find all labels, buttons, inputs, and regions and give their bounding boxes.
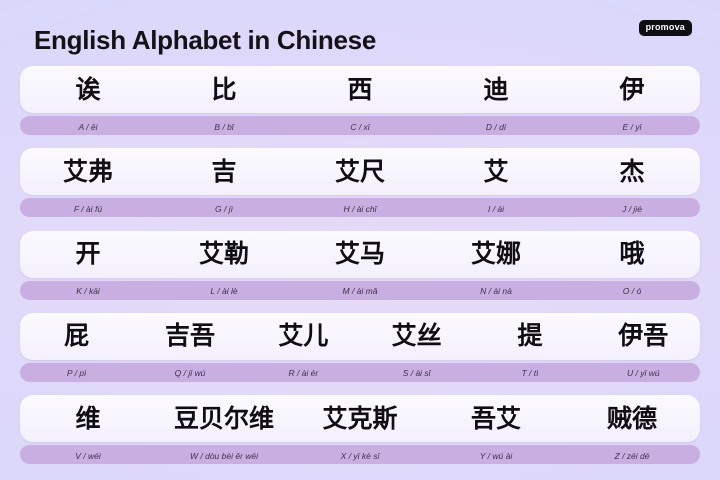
pinyin-text: A / ēi xyxy=(78,122,97,132)
hanzi-cell: 吉吾 xyxy=(133,323,246,349)
pinyin-text: U / yī wú xyxy=(627,368,660,378)
pinyin-text: L / ài lè xyxy=(210,286,237,296)
hanzi-cell: 贼德 xyxy=(564,406,700,432)
pinyin-cell: C / xī xyxy=(292,117,428,135)
pinyin-cell: U / yī wú xyxy=(587,363,700,381)
hanzi-cell: 艾儿 xyxy=(247,323,360,349)
hanzi-text: 迪 xyxy=(483,75,508,104)
pinyin-row: F / ài fúG / jìH / ài chǐI / àiJ / jié xyxy=(20,198,700,217)
hanzi-cell: 艾克斯 xyxy=(292,406,428,432)
hanzi-cell: 吉 xyxy=(156,159,292,185)
hanzi-text: 艾丝 xyxy=(392,321,442,350)
pinyin-text: M / ài mǎ xyxy=(343,286,378,296)
pinyin-text: T / tì xyxy=(521,368,538,378)
pinyin-row: P / pìQ / jī wúR / ài érS / ài sīT / tìU… xyxy=(20,363,700,382)
hanzi-cell: 吾艾 xyxy=(428,406,564,432)
alphabet-row-group: 开艾勒艾马艾娜哦K / kāiL / ài lèM / ài mǎN / ài … xyxy=(20,231,700,300)
hanzi-text: 提 xyxy=(517,321,542,350)
hanzi-text: 西 xyxy=(347,75,372,104)
hanzi-cell: 杰 xyxy=(564,159,700,185)
pinyin-text: B / bǐ xyxy=(214,122,233,132)
pinyin-cell: M / ài mǎ xyxy=(292,281,428,299)
pinyin-text: K / kāi xyxy=(76,286,100,296)
hanzi-cell: 豆贝尔维 xyxy=(156,406,292,432)
pinyin-text: E / yī xyxy=(623,122,642,132)
hanzi-cell: 艾 xyxy=(428,159,564,185)
pinyin-text: N / ài nà xyxy=(480,286,512,296)
hanzi-cell: 艾尺 xyxy=(292,159,428,185)
pinyin-cell: P / pì xyxy=(20,363,133,381)
alphabet-row-group: 屁吉吾艾儿艾丝提伊吾P / pìQ / jī wúR / ài érS / ài… xyxy=(20,313,700,382)
pinyin-cell: I / ài xyxy=(428,199,564,217)
hanzi-text: 吾艾 xyxy=(471,404,521,433)
pinyin-cell: H / ài chǐ xyxy=(292,199,428,217)
poster-header: English Alphabet in Chinese promova xyxy=(20,18,700,62)
alphabet-row-group: 诶比西迪伊A / ēiB / bǐC / xīD / díE / yī xyxy=(20,66,700,135)
pinyin-cell: Y / wú ài xyxy=(428,446,564,464)
pinyin-cell: W / dòu bèi ěr wéi xyxy=(156,446,292,464)
hanzi-text: 维 xyxy=(75,404,100,433)
pinyin-text: J / jié xyxy=(622,204,642,214)
pinyin-cell: O / ó xyxy=(564,281,700,299)
character-row: 屁吉吾艾儿艾丝提伊吾 xyxy=(20,313,700,360)
pinyin-cell: B / bǐ xyxy=(156,117,292,135)
hanzi-text: 屁 xyxy=(64,321,89,350)
pinyin-cell: N / ài nà xyxy=(428,281,564,299)
poster-canvas: English Alphabet in Chinese promova 诶比西迪… xyxy=(0,0,720,480)
pinyin-cell: J / jié xyxy=(564,199,700,217)
hanzi-cell: 伊 xyxy=(564,77,700,103)
pinyin-cell: L / ài lè xyxy=(156,281,292,299)
pinyin-cell: A / ēi xyxy=(20,117,156,135)
pinyin-text: W / dòu bèi ěr wéi xyxy=(190,451,258,461)
pinyin-cell: D / dí xyxy=(428,117,564,135)
alphabet-row-group: 艾弗吉艾尺艾杰F / ài fúG / jìH / ài chǐI / àiJ … xyxy=(20,148,700,217)
page-title: English Alphabet in Chinese xyxy=(34,27,376,53)
pinyin-text: D / dí xyxy=(486,122,506,132)
character-row: 诶比西迪伊 xyxy=(20,66,700,113)
hanzi-cell: 诶 xyxy=(20,77,156,103)
hanzi-text: 诶 xyxy=(75,75,100,104)
pinyin-text: G / jì xyxy=(215,204,233,214)
pinyin-cell: G / jì xyxy=(156,199,292,217)
hanzi-cell: 哦 xyxy=(564,241,700,267)
pinyin-cell: R / ài ér xyxy=(247,363,360,381)
pinyin-cell: F / ài fú xyxy=(20,199,156,217)
pinyin-cell: E / yī xyxy=(564,117,700,135)
hanzi-text: 伊吾 xyxy=(618,321,668,350)
hanzi-cell: 艾弗 xyxy=(20,159,156,185)
pinyin-row: K / kāiL / ài lèM / ài mǎN / ài nàO / ó xyxy=(20,281,700,300)
hanzi-text: 吉吾 xyxy=(165,321,215,350)
hanzi-text: 比 xyxy=(211,75,236,104)
hanzi-text: 伊 xyxy=(619,75,644,104)
character-row: 维豆贝尔维艾克斯吾艾贼德 xyxy=(20,395,700,442)
hanzi-cell: 艾勒 xyxy=(156,241,292,267)
hanzi-text: 豆贝尔维 xyxy=(174,404,274,433)
pinyin-cell: K / kāi xyxy=(20,281,156,299)
hanzi-cell: 提 xyxy=(473,323,586,349)
character-row: 开艾勒艾马艾娜哦 xyxy=(20,231,700,278)
alphabet-row-group: 维豆贝尔维艾克斯吾艾贼德V / wéiW / dòu bèi ěr wéiX /… xyxy=(20,395,700,464)
pinyin-text: F / ài fú xyxy=(74,204,102,214)
hanzi-text: 哦 xyxy=(619,239,644,268)
hanzi-cell: 西 xyxy=(292,77,428,103)
hanzi-text: 杰 xyxy=(619,157,644,186)
pinyin-text: S / ài sī xyxy=(403,368,431,378)
hanzi-cell: 艾马 xyxy=(292,241,428,267)
hanzi-text: 吉 xyxy=(211,157,236,186)
pinyin-cell: Z / zéi dé xyxy=(564,446,700,464)
pinyin-row: A / ēiB / bǐC / xīD / díE / yī xyxy=(20,116,700,135)
pinyin-cell: S / ài sī xyxy=(360,363,473,381)
hanzi-cell: 维 xyxy=(20,406,156,432)
hanzi-cell: 开 xyxy=(20,241,156,267)
hanzi-cell: 比 xyxy=(156,77,292,103)
hanzi-text: 艾尺 xyxy=(335,157,385,186)
hanzi-text: 开 xyxy=(75,239,100,268)
promova-logo: promova xyxy=(639,20,692,36)
pinyin-cell: T / tì xyxy=(473,363,586,381)
pinyin-text: X / yī kè sī xyxy=(341,451,380,461)
pinyin-text: H / ài chǐ xyxy=(343,204,376,214)
hanzi-cell: 伊吾 xyxy=(587,323,700,349)
hanzi-text: 艾娜 xyxy=(471,239,521,268)
hanzi-cell: 艾娜 xyxy=(428,241,564,267)
pinyin-cell: Q / jī wú xyxy=(133,363,246,381)
pinyin-text: I / ài xyxy=(488,204,504,214)
pinyin-text: P / pì xyxy=(67,368,87,378)
pinyin-text: C / xī xyxy=(350,122,369,132)
hanzi-text: 艾弗 xyxy=(63,157,113,186)
pinyin-text: V / wéi xyxy=(75,451,101,461)
hanzi-text: 艾儿 xyxy=(278,321,328,350)
hanzi-cell: 迪 xyxy=(428,77,564,103)
pinyin-cell: X / yī kè sī xyxy=(292,446,428,464)
hanzi-cell: 屁 xyxy=(20,323,133,349)
hanzi-text: 艾克斯 xyxy=(322,404,397,433)
hanzi-text: 艾马 xyxy=(335,239,385,268)
pinyin-text: Y / wú ài xyxy=(480,451,512,461)
pinyin-text: O / ó xyxy=(623,286,641,296)
hanzi-text: 贼德 xyxy=(607,404,657,433)
hanzi-cell: 艾丝 xyxy=(360,323,473,349)
pinyin-row: V / wéiW / dòu bèi ěr wéiX / yī kè sīY /… xyxy=(20,445,700,464)
hanzi-text: 艾勒 xyxy=(199,239,249,268)
character-row: 艾弗吉艾尺艾杰 xyxy=(20,148,700,195)
pinyin-text: Q / jī wú xyxy=(175,368,206,378)
pinyin-text: R / ài ér xyxy=(288,368,318,378)
pinyin-text: Z / zéi dé xyxy=(615,451,650,461)
pinyin-cell: V / wéi xyxy=(20,446,156,464)
hanzi-text: 艾 xyxy=(483,157,508,186)
alphabet-table: 诶比西迪伊A / ēiB / bǐC / xīD / díE / yī艾弗吉艾尺… xyxy=(20,62,700,464)
